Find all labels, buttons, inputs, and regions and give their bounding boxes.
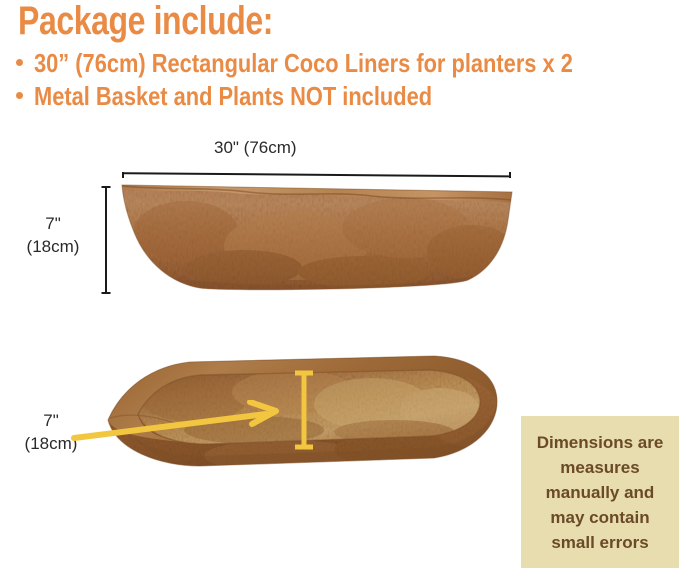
disclaimer-note-box: Dimensions are measures manually and may…	[521, 416, 679, 568]
yellow-arrow-icon	[70, 400, 292, 448]
bullet-dot-icon	[16, 92, 23, 99]
yellow-ibeam-measure-icon	[291, 368, 317, 452]
package-contents-list: 30” (76cm) Rectangular Coco Liners for p…	[6, 46, 676, 112]
list-item-label: Metal Basket and Plants NOT included	[34, 82, 432, 110]
vertical-dimension-rule-icon	[101, 186, 111, 294]
list-item: Metal Basket and Plants NOT included	[6, 79, 676, 112]
height-dimension-value-inches: 7"	[10, 212, 96, 235]
list-item-label: 30” (76cm) Rectangular Coco Liners for p…	[34, 49, 573, 77]
bullet-dot-icon	[16, 59, 23, 66]
package-include-heading: Package include:	[18, 0, 273, 44]
width-dimension-label: 30" (76cm)	[214, 136, 297, 159]
height-dimension-label: 7" (18cm)	[10, 212, 96, 258]
height-dimension-value-cm: (18cm)	[10, 235, 96, 258]
product-infographic: Package include: 30” (76cm) Rectangular …	[0, 0, 679, 568]
disclaimer-note-text: Dimensions are measures manually and may…	[529, 430, 671, 555]
coco-liner-side-view-image	[116, 176, 518, 302]
list-item: 30” (76cm) Rectangular Coco Liners for p…	[6, 46, 676, 79]
